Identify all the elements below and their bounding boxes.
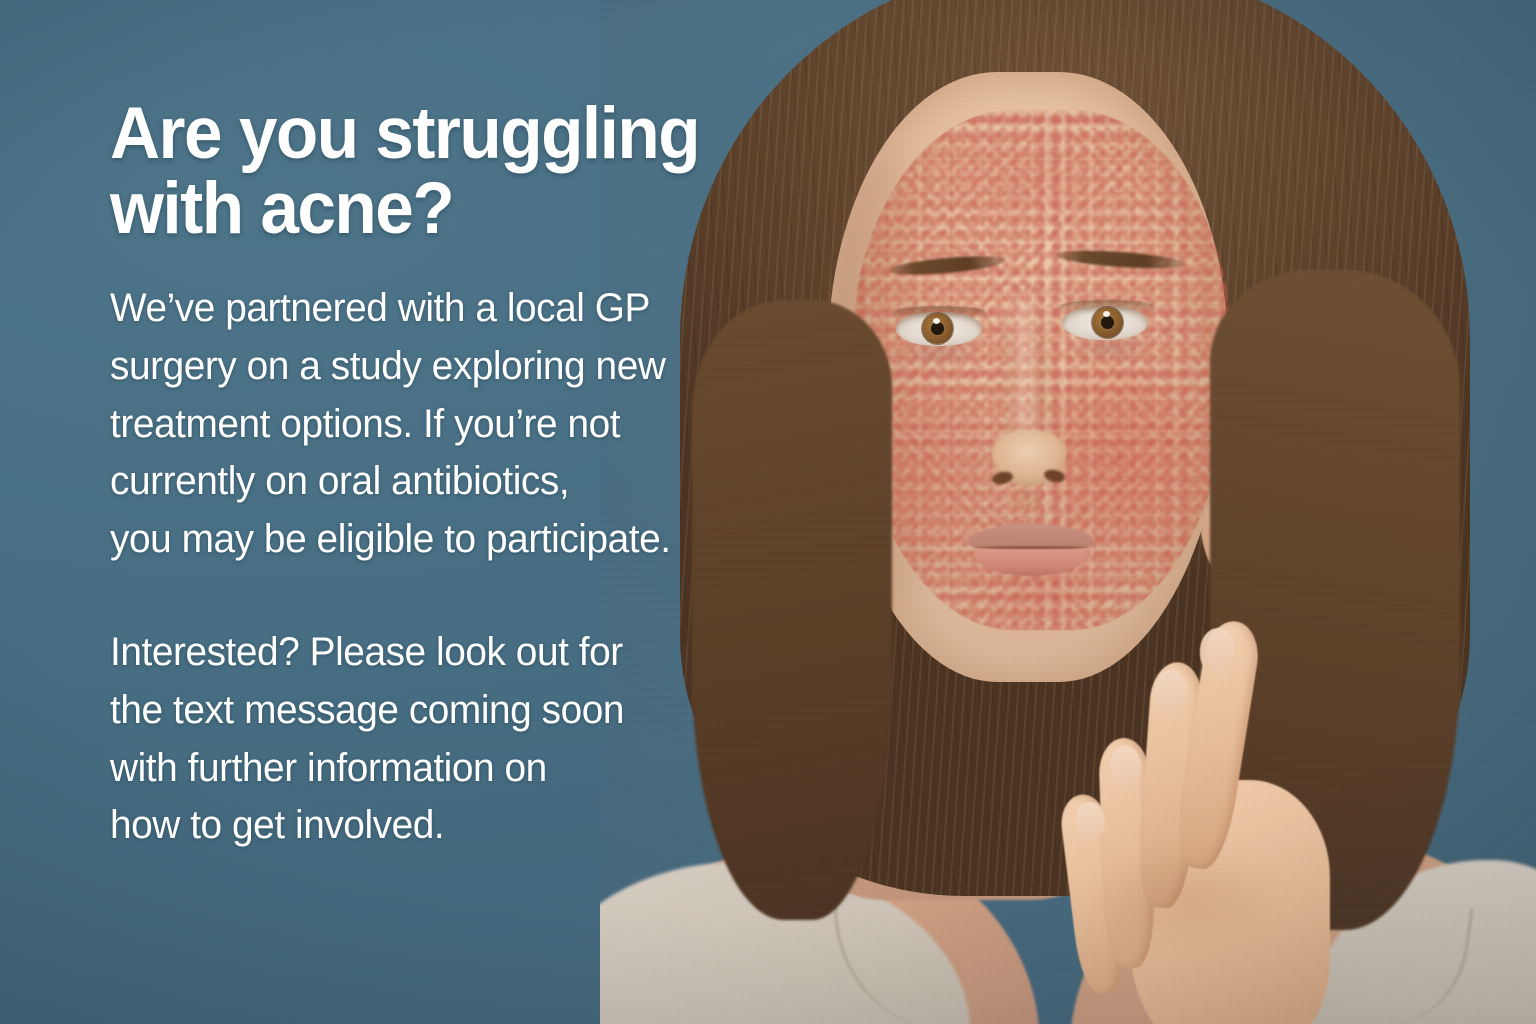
poster-body-paragraph-1: We’ve partnered with a local GP surgery … <box>110 280 847 568</box>
acne-study-poster: Are you struggling with acne? We’ve part… <box>0 0 1536 1024</box>
poster-body-paragraph-2: Interested? Please look out for the text… <box>110 624 847 854</box>
poster-text-column: Are you struggling with acne? We’ve part… <box>110 96 870 855</box>
poster-headline: Are you struggling with acne? <box>110 96 832 246</box>
